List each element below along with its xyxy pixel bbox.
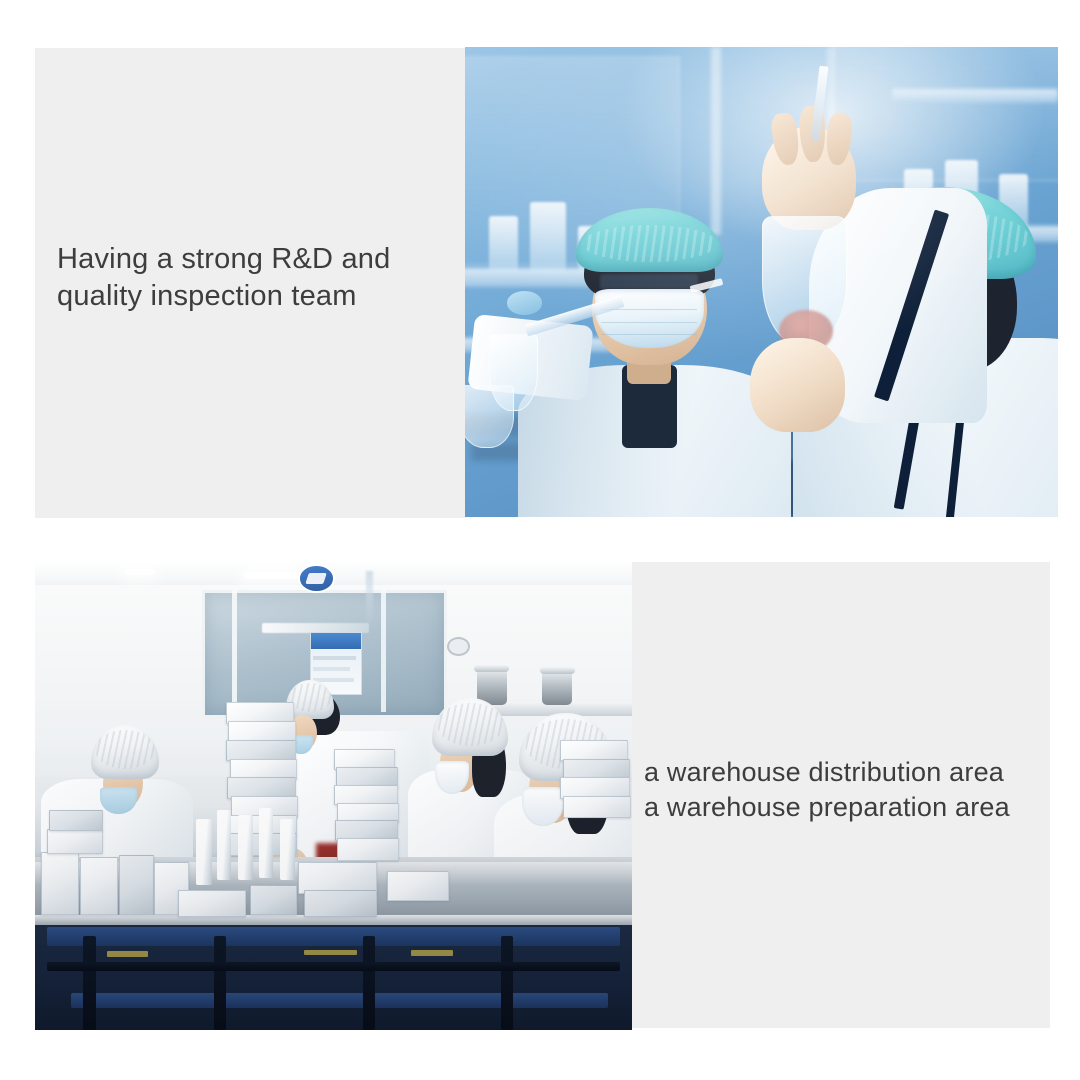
warehouse-packing-photo (35, 562, 632, 1030)
page-root: Having a strong R&D and quality inspecti… (0, 0, 1080, 1080)
warehouse-photo-illustration (35, 562, 632, 1030)
warehouse-tonal-grade (35, 562, 632, 1030)
lab-light-bloom (465, 47, 1058, 517)
bottom-caption-text: a warehouse distribution area a warehous… (644, 755, 1054, 825)
section-top: Having a strong R&D and quality inspecti… (0, 0, 1080, 540)
section-bottom: a warehouse distribution area a warehous… (0, 540, 1080, 1080)
lab-inspection-photo (465, 47, 1058, 517)
lab-photo-illustration (465, 47, 1058, 517)
top-caption-text: Having a strong R&D and quality inspecti… (57, 241, 457, 315)
